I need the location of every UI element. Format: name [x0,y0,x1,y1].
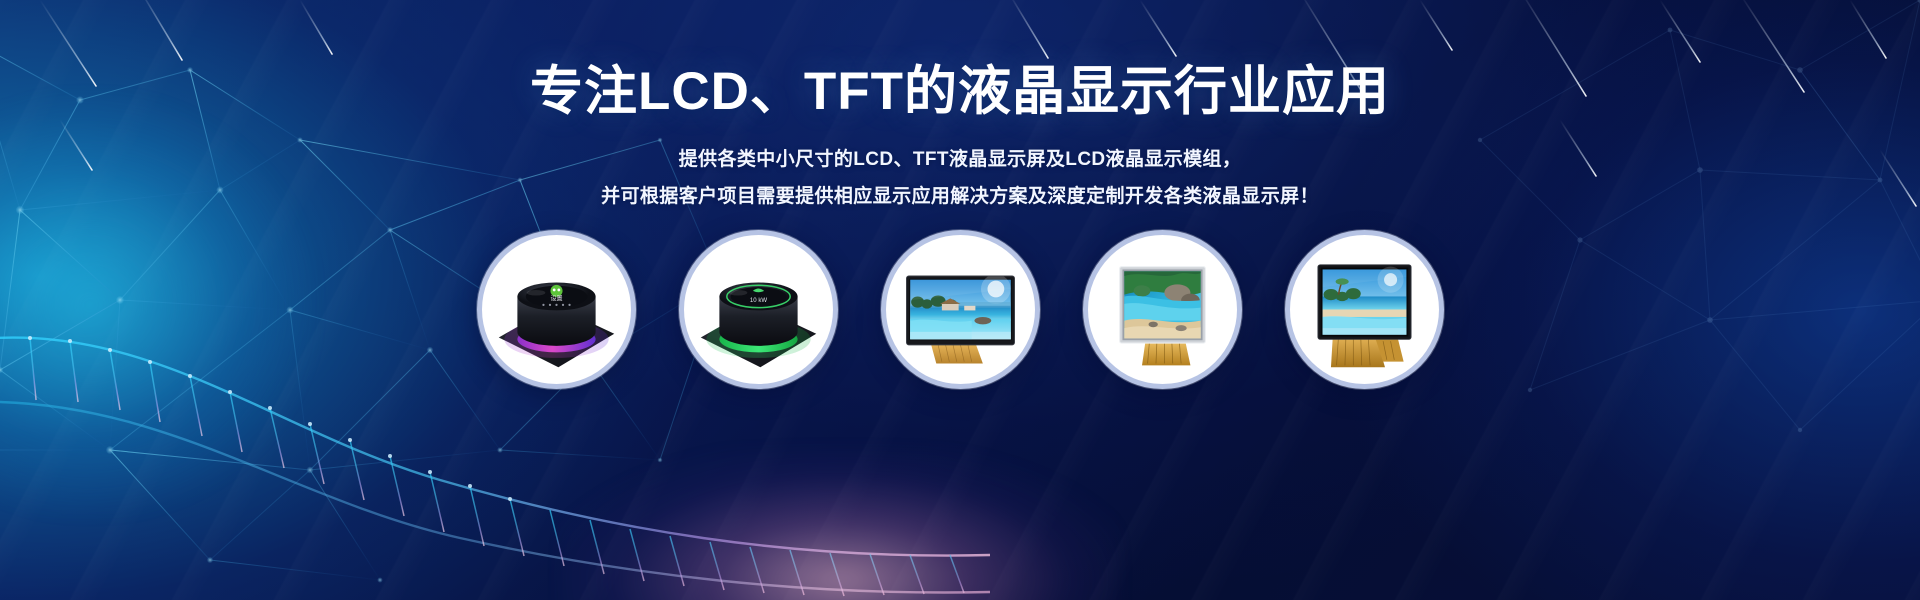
svg-text:设置: 设置 [550,295,562,303]
round-smart-speaker-device-icon: 10 kW [684,235,833,384]
lcd-touch-panel-icon [1290,235,1439,384]
product-circle-smart-speaker-green[interactable]: 10 kW [679,230,838,389]
hero-banner: 专注LCD、TFT的液晶显示行业应用 提供各类中小尺寸的LCD、TFT液晶显示屏… [0,0,1920,600]
lcd-module-panel-icon [1088,235,1237,384]
lcd-display-panel-icon [886,235,1035,384]
hero-subtitle: 提供各类中小尺寸的LCD、TFT液晶显示屏及LCD液晶显示模组， 并可根据客户项… [0,141,1920,215]
product-circle-smart-speaker-purple[interactable]: 设置 [477,230,636,389]
round-smart-speaker-device-icon: 设置 [482,235,631,384]
hero-text-block: 专注LCD、TFT的液晶显示行业应用 提供各类中小尺寸的LCD、TFT液晶显示屏… [0,62,1920,215]
subtitle-line-2: 并可根据客户项目需要提供相应显示应用解决方案及深度定制开发各类液晶显示屏！ [0,178,1920,215]
page-title: 专注LCD、TFT的液晶显示行业应用 [0,62,1920,121]
product-circle-tft-lcd-touch-panel[interactable] [1285,230,1444,389]
product-showcase-row: 设置 [0,230,1920,389]
product-circle-tft-lcd-module-with-fpc[interactable] [1083,230,1242,389]
svg-text:10 kW: 10 kW [749,298,766,304]
subtitle-line-1: 提供各类中小尺寸的LCD、TFT液晶显示屏及LCD液晶显示模组， [0,141,1920,178]
product-circle-tft-lcd-display-widescreen[interactable] [881,230,1040,389]
